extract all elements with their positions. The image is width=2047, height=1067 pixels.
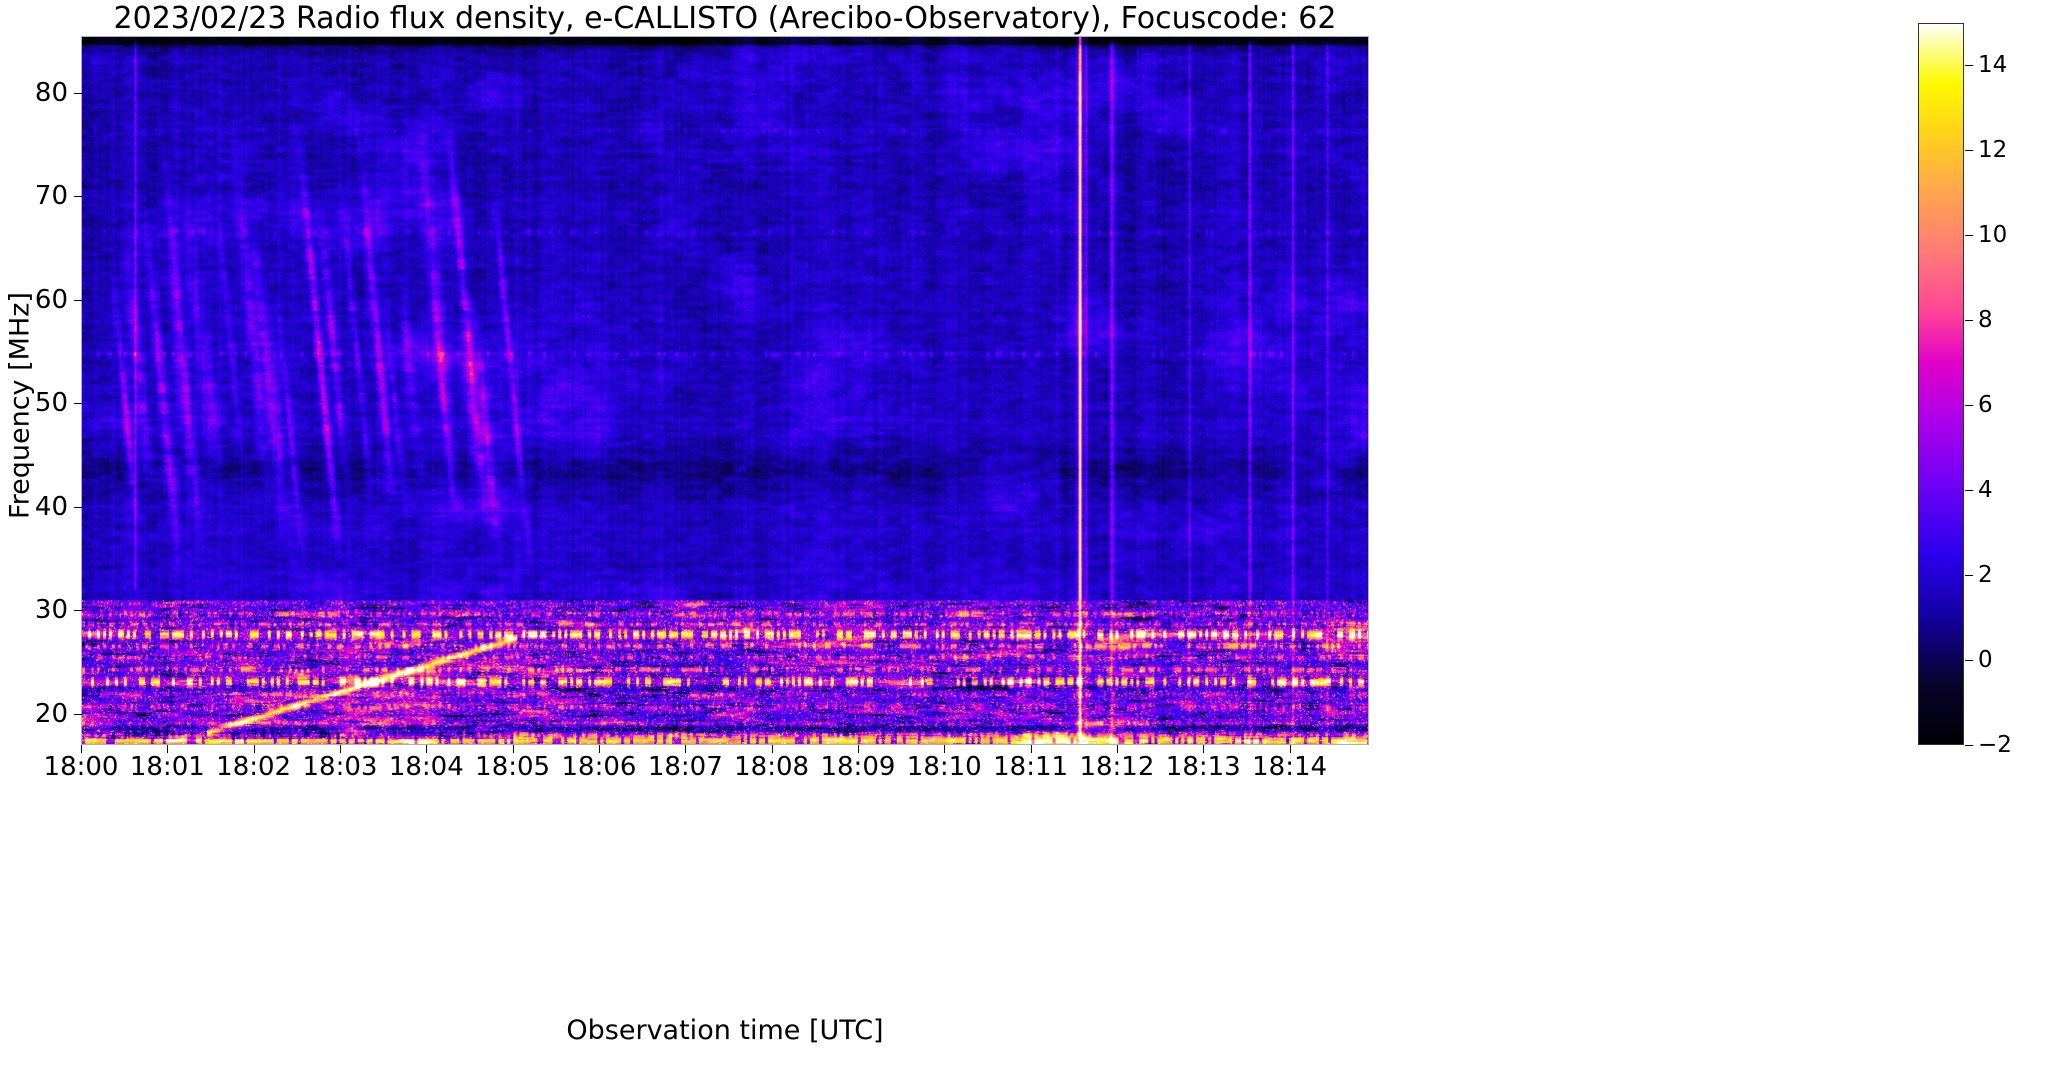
colorbar-tick-label: −2: [1978, 732, 2012, 758]
colorbar-tick-mark: [1965, 320, 1973, 321]
x-tick-mark: [858, 745, 859, 753]
y-tick-mark: [74, 714, 82, 715]
y-tick-mark: [74, 610, 82, 611]
y-tick-label: 40: [0, 492, 68, 522]
x-tick-mark: [685, 745, 686, 753]
y-tick-label: 30: [0, 595, 68, 625]
x-tick-mark: [1290, 745, 1291, 753]
colorbar-tick-mark: [1965, 150, 1973, 151]
x-tick-label: 18:14: [1210, 752, 1370, 782]
x-tick-mark: [1031, 745, 1032, 753]
y-tick-label: 50: [0, 388, 68, 418]
x-tick-mark: [944, 745, 945, 753]
x-axis-label: Observation time [UTC]: [81, 1015, 1369, 1046]
figure-canvas: 2023/02/23 Radio flux density, e-CALLIST…: [0, 0, 2047, 1067]
colorbar-tick-mark: [1965, 745, 1973, 746]
y-tick-label: 70: [0, 181, 68, 211]
colorbar-gradient: [1919, 24, 1963, 744]
x-tick-mark: [167, 745, 168, 753]
x-tick-mark: [81, 745, 82, 753]
y-tick-label: 60: [0, 285, 68, 315]
colorbar-tick-mark: [1965, 405, 1973, 406]
x-tick-mark: [599, 745, 600, 753]
y-tick-label: 20: [0, 699, 68, 729]
y-tick-mark: [74, 507, 82, 508]
colorbar-tick-mark: [1965, 575, 1973, 576]
colorbar-axes[interactable]: [1918, 23, 1964, 745]
y-tick-mark: [74, 403, 82, 404]
colorbar-tick-label: 14: [1978, 52, 2007, 78]
spectrogram-axes[interactable]: [81, 36, 1369, 745]
colorbar-tick-label: 6: [1978, 392, 1993, 418]
y-tick-mark: [74, 300, 82, 301]
colorbar-tick-label: 8: [1978, 307, 1993, 333]
x-tick-mark: [254, 745, 255, 753]
x-tick-mark: [772, 745, 773, 753]
y-tick-label: 80: [0, 78, 68, 108]
colorbar-tick-label: 2: [1978, 562, 1993, 588]
x-tick-mark: [340, 745, 341, 753]
colorbar-tick-mark: [1965, 490, 1973, 491]
x-tick-mark: [426, 745, 427, 753]
x-tick-mark: [1117, 745, 1118, 753]
colorbar-tick-mark: [1965, 235, 1973, 236]
colorbar-tick-mark: [1965, 65, 1973, 66]
y-tick-mark: [74, 93, 82, 94]
y-tick-mark: [74, 196, 82, 197]
colorbar-tick-label: 0: [1978, 647, 1993, 673]
x-tick-mark: [513, 745, 514, 753]
x-tick-mark: [1203, 745, 1204, 753]
page-title: 2023/02/23 Radio flux density, e-CALLIST…: [81, 2, 1369, 36]
colorbar-tick-label: 4: [1978, 477, 1993, 503]
spectrogram-heatmap: [82, 37, 1368, 744]
colorbar-tick-label: 10: [1978, 222, 2007, 248]
colorbar-tick-label: 12: [1978, 137, 2007, 163]
colorbar-tick-mark: [1965, 660, 1973, 661]
